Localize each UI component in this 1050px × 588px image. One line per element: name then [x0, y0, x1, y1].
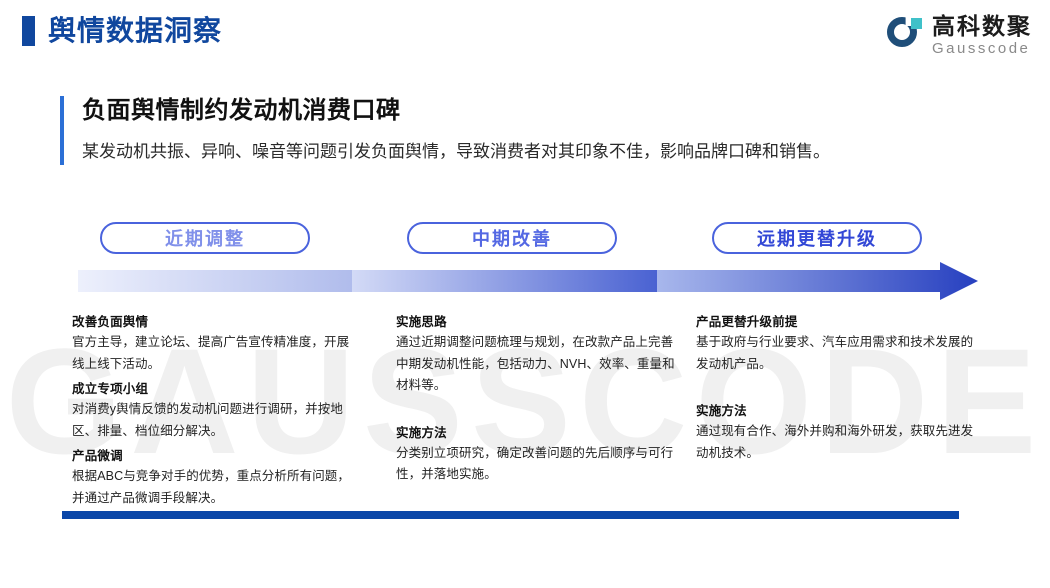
bottom-accent-bar	[62, 511, 959, 519]
stage-pill-near-term[interactable]: 近期调整	[100, 222, 310, 254]
detail-column-long-term: 产品更替升级前提 基于政府与行业要求、汽车应用需求和技术发展的发动机产品。 实施…	[696, 312, 978, 468]
brand-logo-text: 高科数聚 Gausscode	[932, 15, 1032, 56]
page-title-group: 舆情数据洞察	[22, 16, 222, 46]
brand-name-cn: 高科数聚	[932, 15, 1032, 38]
title-bullet-icon	[22, 16, 35, 46]
detail-block-body: 通过近期调整问题梳理与规划，在改款产品上完善中期发动机性能，包括动力、NVH、效…	[396, 332, 678, 397]
right-arrow-progression-icon	[0, 262, 1050, 300]
detail-block-body: 分类别立项研究，确定改善问题的先后顺序与可行性，并落地实施。	[396, 443, 678, 486]
brand-logo: 高科数聚 Gausscode	[887, 12, 1032, 58]
page-title: 舆情数据洞察	[48, 16, 222, 46]
lead-subheading: 某发动机共振、异响、噪音等问题引发负面舆情，导致消费者对其印象不佳，影响品牌口碑…	[82, 140, 1020, 165]
logo-square-accent	[911, 18, 922, 29]
detail-block-title: 产品微调	[72, 446, 354, 466]
detail-block: 产品微调 根据ABC与竞争对手的优势，重点分析所有问题，并通过产品微调手段解决。	[72, 446, 354, 509]
stage-pill-long-term[interactable]: 远期更替升级	[712, 222, 922, 254]
detail-block: 改善负面舆情 官方主导，建立论坛、提高广告宣传精准度，开展线上线下活动。	[72, 312, 354, 375]
detail-columns: 改善负面舆情 官方主导，建立论坛、提高广告宣传精准度，开展线上线下活动。 成立专…	[0, 312, 1050, 502]
detail-block: 成立专项小组 对消费y舆情反馈的发动机问题进行调研，并按地区、排量、档位细分解决…	[72, 379, 354, 442]
lead-heading: 负面舆情制约发动机消费口碑	[82, 96, 1020, 126]
detail-block-title: 实施方法	[696, 401, 978, 421]
detail-block-title: 实施思路	[396, 312, 678, 332]
timeline-arrow	[0, 262, 1050, 300]
lead-section: 负面舆情制约发动机消费口碑 某发动机共振、异响、噪音等问题引发负面舆情，导致消费…	[60, 96, 1020, 165]
detail-block: 实施方法 通过现有合作、海外并购和海外研发，获取先进发动机技术。	[696, 401, 978, 464]
brand-name-en: Gausscode	[932, 41, 1032, 56]
page-header: 舆情数据洞察 高科数聚 Gausscode	[0, 0, 1050, 72]
detail-block-body: 基于政府与行业要求、汽车应用需求和技术发展的发动机产品。	[696, 332, 978, 375]
detail-block-title: 实施方法	[396, 423, 678, 443]
detail-block-body: 官方主导，建立论坛、提高广告宣传精准度，开展线上线下活动。	[72, 332, 354, 375]
gausscode-g-icon	[887, 17, 923, 53]
detail-block-body: 对消费y舆情反馈的发动机问题进行调研，并按地区、排量、档位细分解决。	[72, 399, 354, 442]
detail-block-title: 成立专项小组	[72, 379, 354, 399]
detail-block-body: 根据ABC与竞争对手的优势，重点分析所有问题，并通过产品微调手段解决。	[72, 466, 354, 509]
detail-block: 实施方法 分类别立项研究，确定改善问题的先后顺序与可行性，并落地实施。	[396, 423, 678, 486]
detail-block: 产品更替升级前提 基于政府与行业要求、汽车应用需求和技术发展的发动机产品。	[696, 312, 978, 375]
stage-pill-mid-term[interactable]: 中期改善	[407, 222, 617, 254]
timeline-stage-labels: 近期调整 中期改善 远期更替升级	[0, 222, 1050, 256]
detail-block-title: 改善负面舆情	[72, 312, 354, 332]
detail-block-body: 通过现有合作、海外并购和海外研发，获取先进发动机技术。	[696, 421, 978, 464]
detail-block: 实施思路 通过近期调整问题梳理与规划，在改款产品上完善中期发动机性能，包括动力、…	[396, 312, 678, 397]
detail-column-near-term: 改善负面舆情 官方主导，建立论坛、提高广告宣传精准度，开展线上线下活动。 成立专…	[72, 312, 354, 513]
detail-column-mid-term: 实施思路 通过近期调整问题梳理与规划，在改款产品上完善中期发动机性能，包括动力、…	[396, 312, 678, 490]
detail-block-title: 产品更替升级前提	[696, 312, 978, 332]
